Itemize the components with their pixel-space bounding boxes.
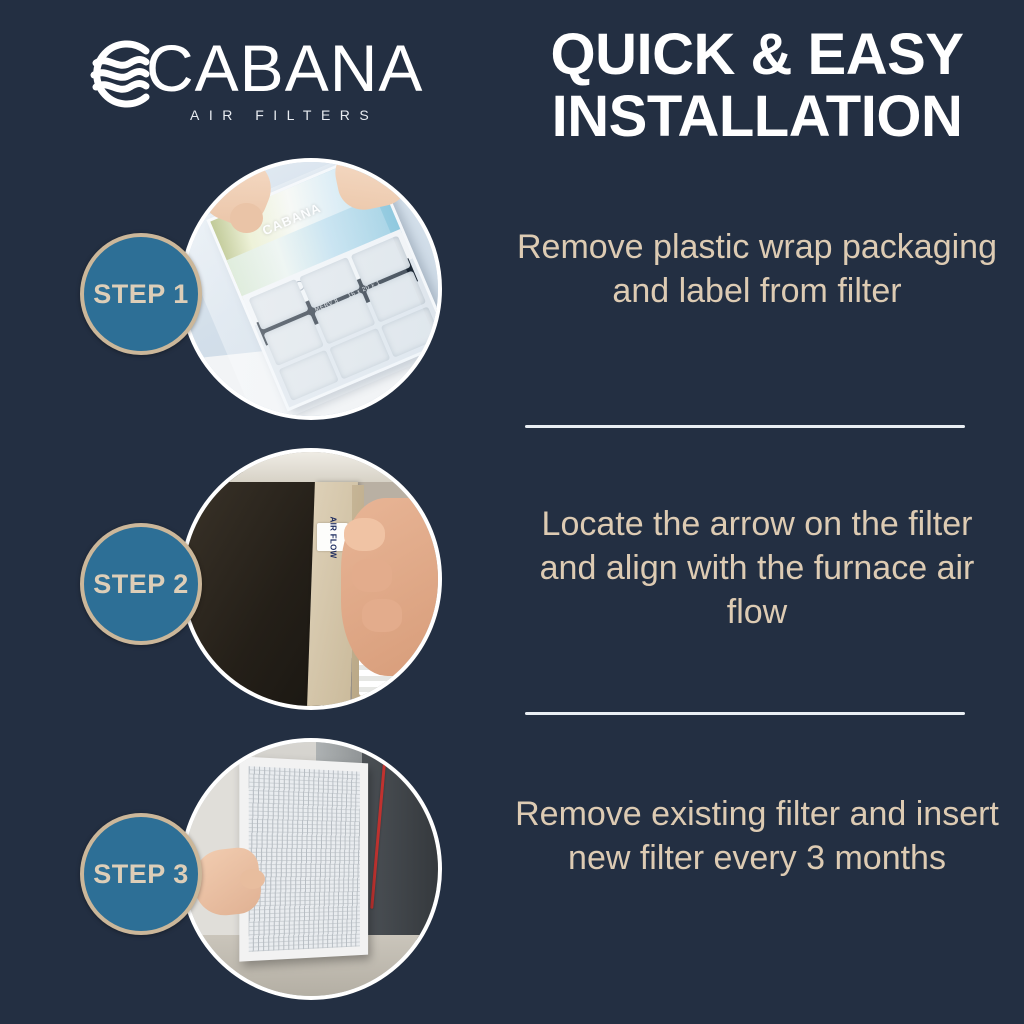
step-row-1: CABANA MERV 8 16 x 20 x 1 STEP 1 [0,150,1024,440]
step-1-text: Remove plastic wrap packaging and label … [512,225,1002,313]
furnace-unit [362,742,438,940]
step-row-3: STEP 3 Remove existing filter and insert… [0,730,1024,1020]
divider-2 [525,712,965,715]
step-3-text: Remove existing filter and insert new fi… [512,792,1002,880]
step-row-2: AIR FLOW STEP 2 Locate the arrow on the … [0,440,1024,730]
brand-logo: CABANA AIR FILTERS [84,33,444,118]
infographic-page: CABANA AIR FILTERS QUICK & EASY INSTALLA… [0,0,1024,1024]
step-3-photo [180,738,442,1000]
step-1-photo: CABANA MERV 8 16 x 20 x 1 [180,158,442,420]
step-2-photo: AIR FLOW [180,448,442,710]
step-3-badge-label: STEP 3 [93,859,189,890]
brand-name: CABANA [146,29,423,107]
page-title-line-2: INSTALLATION [512,86,1002,148]
step-2-badge-label: STEP 2 [93,569,189,600]
step-3-badge: STEP 3 [80,813,202,935]
photo-filter-unwrap: CABANA MERV 8 16 x 20 x 1 [184,162,438,416]
page-title: QUICK & EASY INSTALLATION [512,24,1002,148]
hand-left-fingers [230,203,263,233]
brand-tagline: AIR FILTERS [190,107,378,123]
step-1-badge: STEP 1 [80,233,202,355]
page-title-line-1: QUICK & EASY [512,24,1002,86]
air-flow-label-text: AIR FLOW [328,516,337,558]
step-2-text: Locate the arrow on the filter and align… [512,502,1002,634]
photo-replace-filter [184,742,438,996]
photo-airflow-arrow: AIR FLOW [184,452,438,706]
step-1-badge-label: STEP 1 [93,279,189,310]
step-2-badge: STEP 2 [80,523,202,645]
divider-1 [525,425,965,428]
existing-filter [239,756,368,961]
